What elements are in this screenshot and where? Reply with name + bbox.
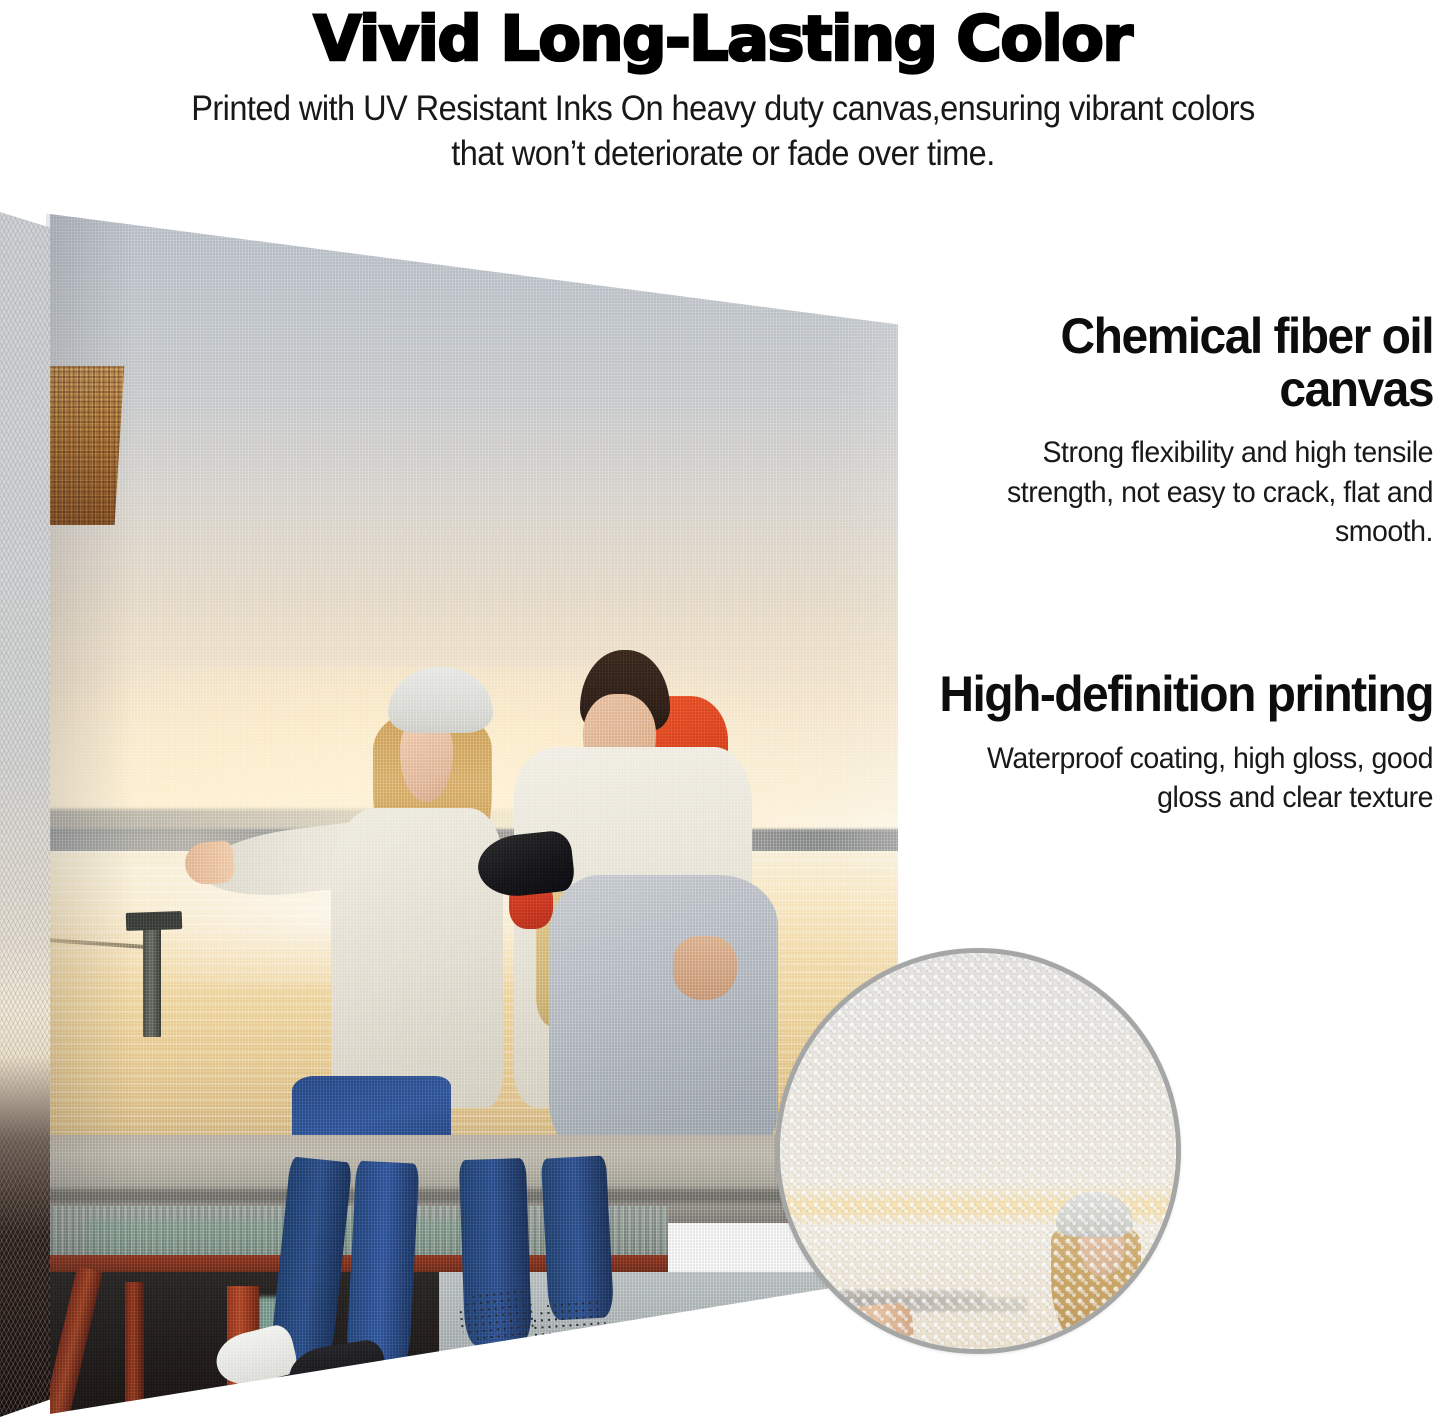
canvas-printed-face bbox=[50, 214, 898, 1414]
feature-chemical-fiber-oil-canvas: Chemical fiber oil canvas Strong flexibi… bbox=[913, 310, 1433, 552]
page-subtitle: Printed with UV Resistant Inks On heavy … bbox=[188, 73, 1258, 177]
header-block: Vivid Long-Lasting Color Printed with UV… bbox=[0, 0, 1445, 215]
canvas-texture-magnifier bbox=[775, 948, 1181, 1354]
page-title: Vivid Long-Lasting Color bbox=[0, 0, 1445, 73]
patterned-sneaker-2 bbox=[531, 1299, 608, 1355]
feature-body: Strong flexibility and high tensile stre… bbox=[939, 415, 1433, 552]
woman-pointing-hand bbox=[183, 840, 235, 885]
feature-high-definition-printing: High-definition printing Waterproof coat… bbox=[913, 668, 1433, 818]
feature-title: Chemical fiber oil canvas bbox=[934, 310, 1433, 415]
pier-sunset-photo bbox=[50, 214, 898, 1414]
man-hand bbox=[673, 936, 736, 1000]
mooring-bollard bbox=[143, 922, 161, 1037]
magnified-weave-layer-2 bbox=[775, 948, 1181, 1354]
leg-jeans-4 bbox=[540, 1155, 614, 1320]
child-blanket bbox=[549, 875, 778, 1157]
feature-body: Waterproof coating, high gloss, good glo… bbox=[939, 721, 1433, 818]
leg-jeans-2 bbox=[345, 1160, 419, 1371]
magnifier-content bbox=[775, 948, 1181, 1354]
bollard-cap bbox=[125, 911, 181, 931]
woman-sweater bbox=[331, 808, 503, 1108]
pier-post-left bbox=[125, 1282, 144, 1414]
feature-title: High-definition printing bbox=[934, 668, 1433, 721]
